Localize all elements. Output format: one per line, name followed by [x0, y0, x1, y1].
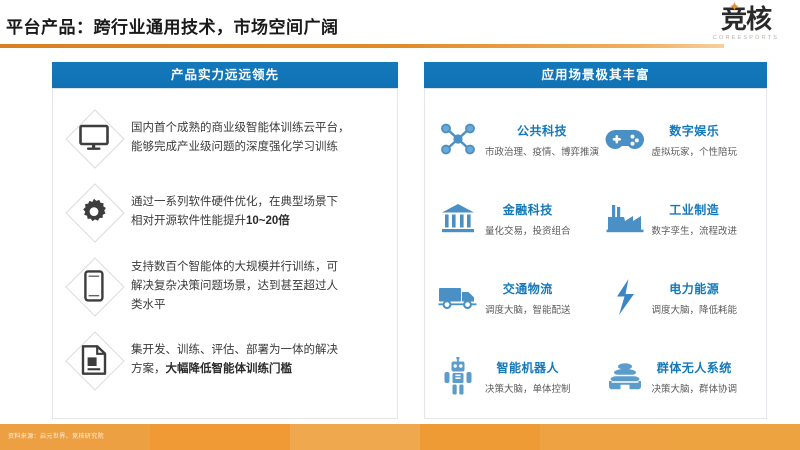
swarm-hive-icon — [602, 353, 648, 399]
bank-icon — [435, 195, 481, 241]
scenario-desc: 量化交易，投资组合 — [485, 223, 571, 237]
list-item: 交通物流 调度大脑，智能配送 — [429, 257, 596, 336]
scenario-title: 电力能源 — [652, 280, 738, 297]
list-item: 集开发、训练、评估、部署为一体的解决 方案，大幅降低智能体训练门槛 — [53, 323, 397, 397]
application-scenarios-panel: 应用场景极其丰富 公共科技 — [424, 62, 767, 419]
feature-text: 集开发、训练、评估、部署为一体的解决 方案，大幅降低智能体训练门槛 — [131, 341, 338, 379]
scenario-desc: 调度大脑，智能配送 — [485, 302, 571, 316]
list-item: 群体无人系统 决策大脑，群体协调 — [596, 336, 763, 415]
spark-icon: ✦ — [729, 1, 739, 14]
scenario-desc: 市政治理、疫情、博弈推演 — [485, 144, 599, 158]
logo-wordmark: ✦ 竞核 — [721, 6, 771, 34]
scenario-title: 金融科技 — [485, 201, 571, 218]
footer-band — [670, 424, 800, 450]
network-nodes-icon — [435, 116, 481, 162]
footer-band — [150, 424, 290, 450]
truck-icon — [435, 274, 481, 320]
feature-text: 国内首个成熟的商业级智能体训练云平台， 能够完成产业级问题的深度强化学习训练 — [131, 119, 350, 157]
scenario-desc: 调度大脑，降低耗能 — [652, 302, 738, 316]
list-item: 支持数百个智能体的大规模并行训练，可 解决复杂决策问题场景，达到甚至超过人 类水… — [53, 249, 397, 323]
slide-root: 平台产品：跨行业通用技术，市场空间广阔 ✦ 竞核 COREESPORTS 产品实… — [0, 0, 800, 450]
header-divider-rule — [0, 44, 724, 48]
scenario-body: 群体无人系统 决策大脑，群体协调 — [652, 357, 738, 395]
mobile-icon — [65, 257, 123, 315]
scenario-body: 交通物流 调度大脑，智能配送 — [485, 278, 571, 316]
list-item: 工业制造 数字孪生，流程改进 — [596, 178, 763, 257]
lightning-icon — [602, 274, 648, 320]
footer-band — [420, 424, 540, 450]
document-icon — [65, 331, 123, 389]
scenario-desc: 决策大脑，群体协调 — [652, 381, 738, 395]
list-item: 通过一系列软件硬件优化，在典型场景下 相对开源软件性能提升10~20倍 — [53, 175, 397, 249]
feature-text: 支持数百个智能体的大规模并行训练，可 解决复杂决策问题场景，达到甚至超过人 类水… — [131, 258, 338, 315]
scenario-title: 交通物流 — [485, 280, 571, 297]
left-panel-heading: 产品实力远远领先 — [52, 62, 398, 89]
scenario-title: 公共科技 — [485, 122, 599, 139]
scenario-title: 群体无人系统 — [652, 359, 738, 376]
scenario-body: 公共科技 市政治理、疫情、博弈推演 — [485, 120, 599, 158]
factory-icon — [602, 195, 648, 241]
source-note: 资料来源：启元世界、竞核研究院 — [8, 431, 104, 440]
gamepad-icon — [602, 116, 648, 162]
scenario-body: 金融科技 量化交易，投资组合 — [485, 199, 571, 237]
scenario-title: 工业制造 — [652, 201, 738, 218]
list-item: 公共科技 市政治理、疫情、博弈推演 — [429, 99, 596, 178]
scenario-desc: 决策大脑，单体控制 — [485, 381, 571, 395]
scenario-body: 电力能源 调度大脑，降低耗能 — [652, 278, 738, 316]
monitor-icon — [65, 109, 123, 167]
footer-band — [540, 424, 670, 450]
feature-text: 通过一系列软件硬件优化，在典型场景下 相对开源软件性能提升10~20倍 — [131, 193, 338, 231]
list-item: 国内首个成熟的商业级智能体训练云平台， 能够完成产业级问题的深度强化学习训练 — [53, 101, 397, 175]
list-item: 金融科技 量化交易，投资组合 — [429, 178, 596, 257]
right-panel-heading: 应用场景极其丰富 — [424, 62, 767, 89]
scenario-body: 数字娱乐 虚拟玩家，个性陪玩 — [652, 120, 738, 158]
list-item: 数字娱乐 虚拟玩家，个性陪玩 — [596, 99, 763, 178]
scenario-title: 智能机器人 — [485, 359, 571, 376]
scenario-grid: 公共科技 市政治理、疫情、博弈推演 — [425, 89, 766, 415]
list-item: 智能机器人 决策大脑，单体控制 — [429, 336, 596, 415]
scenario-body: 智能机器人 决策大脑，单体控制 — [485, 357, 571, 395]
product-strength-panel: 产品实力远远领先 国内首个成熟的商业级智能体训练云平台， 能够完成产业级问题的深… — [52, 62, 398, 419]
scenario-title: 数字娱乐 — [652, 122, 738, 139]
page-title: 平台产品：跨行业通用技术，市场空间广阔 — [6, 13, 339, 38]
slide-header: 平台产品：跨行业通用技术，市场空间广阔 ✦ 竞核 COREESPORTS — [0, 0, 800, 52]
scenario-body: 工业制造 数字孪生，流程改进 — [652, 199, 738, 237]
brand-logo: ✦ 竞核 COREESPORTS — [700, 6, 792, 48]
scenario-desc: 数字孪生，流程改进 — [652, 223, 738, 237]
footer-band — [290, 424, 420, 450]
robot-icon — [435, 353, 481, 399]
gear-icon — [65, 183, 123, 241]
logo-subtitle: COREESPORTS — [700, 35, 792, 41]
feature-list: 国内首个成熟的商业级智能体训练云平台， 能够完成产业级问题的深度强化学习训练 通… — [53, 89, 397, 397]
slide-footer: 资料来源：启元世界、竞核研究院 — [0, 424, 800, 450]
scenario-desc: 虚拟玩家，个性陪玩 — [652, 144, 738, 158]
list-item: 电力能源 调度大脑，降低耗能 — [596, 257, 763, 336]
